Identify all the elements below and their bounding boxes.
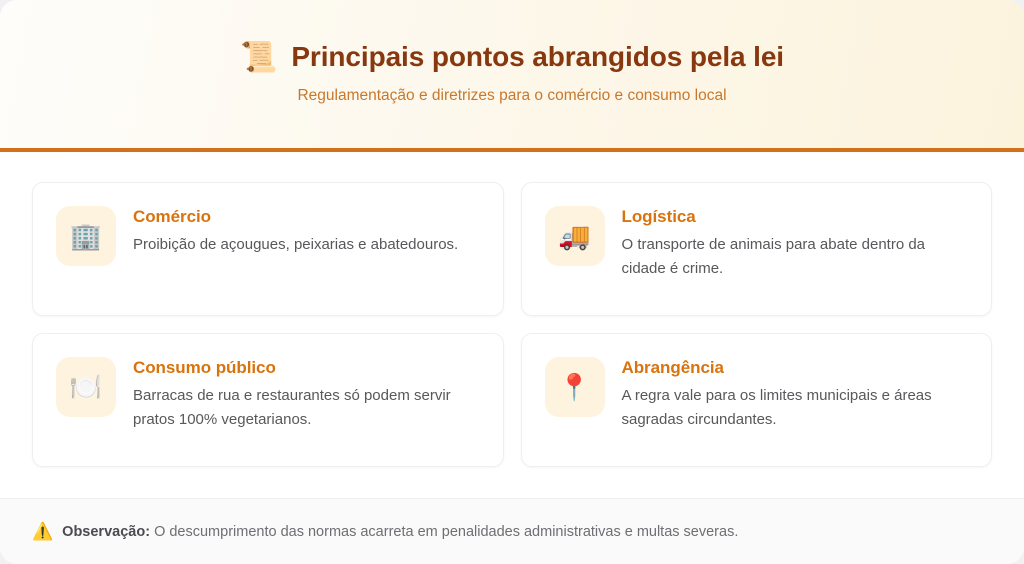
card-title: Abrangência (622, 358, 970, 378)
info-card-container: 📜 Principais pontos abrangidos pela lei … (0, 0, 1024, 564)
card-title: Logística (622, 207, 970, 227)
card-description: A regra vale para os limites municipais … (622, 384, 970, 431)
card-text-block: Abrangência A regra vale para os limites… (622, 357, 970, 431)
card-text-block: Comércio Proibição de açougues, peixaria… (133, 206, 481, 257)
footer-note-bar: ⚠️ Observação: O descumprimento das norm… (0, 498, 1024, 564)
round-pushpin-icon: 📍 (545, 357, 605, 417)
card-text-block: Logística O transporte de animais para a… (622, 206, 970, 280)
warning-triangle-icon: ⚠️ (32, 523, 53, 540)
card-text-block: Consumo público Barracas de rua e restau… (133, 357, 481, 431)
fork-plate-knife-icon: 🍽️ (56, 357, 116, 417)
cards-grid: 🏢 Comércio Proibição de açougues, peixar… (32, 182, 992, 467)
delivery-truck-icon: 🚚 (545, 206, 605, 266)
page-title: Principais pontos abrangidos pela lei (291, 41, 784, 73)
cards-section: 🏢 Comércio Proibição de açougues, peixar… (0, 152, 1024, 498)
header-banner: 📜 Principais pontos abrangidos pela lei … (0, 0, 1024, 152)
footer-note-label: Observação: (62, 524, 150, 540)
card-comercio: 🏢 Comércio Proibição de açougues, peixar… (32, 182, 504, 316)
card-description: Barracas de rua e restaurantes só podem … (133, 384, 481, 431)
header-title-row: 📜 Principais pontos abrangidos pela lei (240, 41, 784, 73)
office-building-icon: 🏢 (56, 206, 116, 266)
card-description: O transporte de animais para abate dentr… (622, 233, 970, 280)
footer-note-text: Observação: O descumprimento das normas … (62, 524, 738, 540)
card-description: Proibição de açougues, peixarias e abate… (133, 233, 481, 257)
page-subtitle: Regulamentação e diretrizes para o comér… (297, 87, 726, 105)
card-title: Consumo público (133, 358, 481, 378)
card-title: Comércio (133, 207, 481, 227)
footer-note-body: O descumprimento das normas acarreta em … (154, 524, 738, 540)
card-consumo-publico: 🍽️ Consumo público Barracas de rua e res… (32, 333, 504, 467)
card-logistica: 🚚 Logística O transporte de animais para… (521, 182, 993, 316)
scroll-icon: 📜 (240, 43, 277, 73)
card-abrangencia: 📍 Abrangência A regra vale para os limit… (521, 333, 993, 467)
